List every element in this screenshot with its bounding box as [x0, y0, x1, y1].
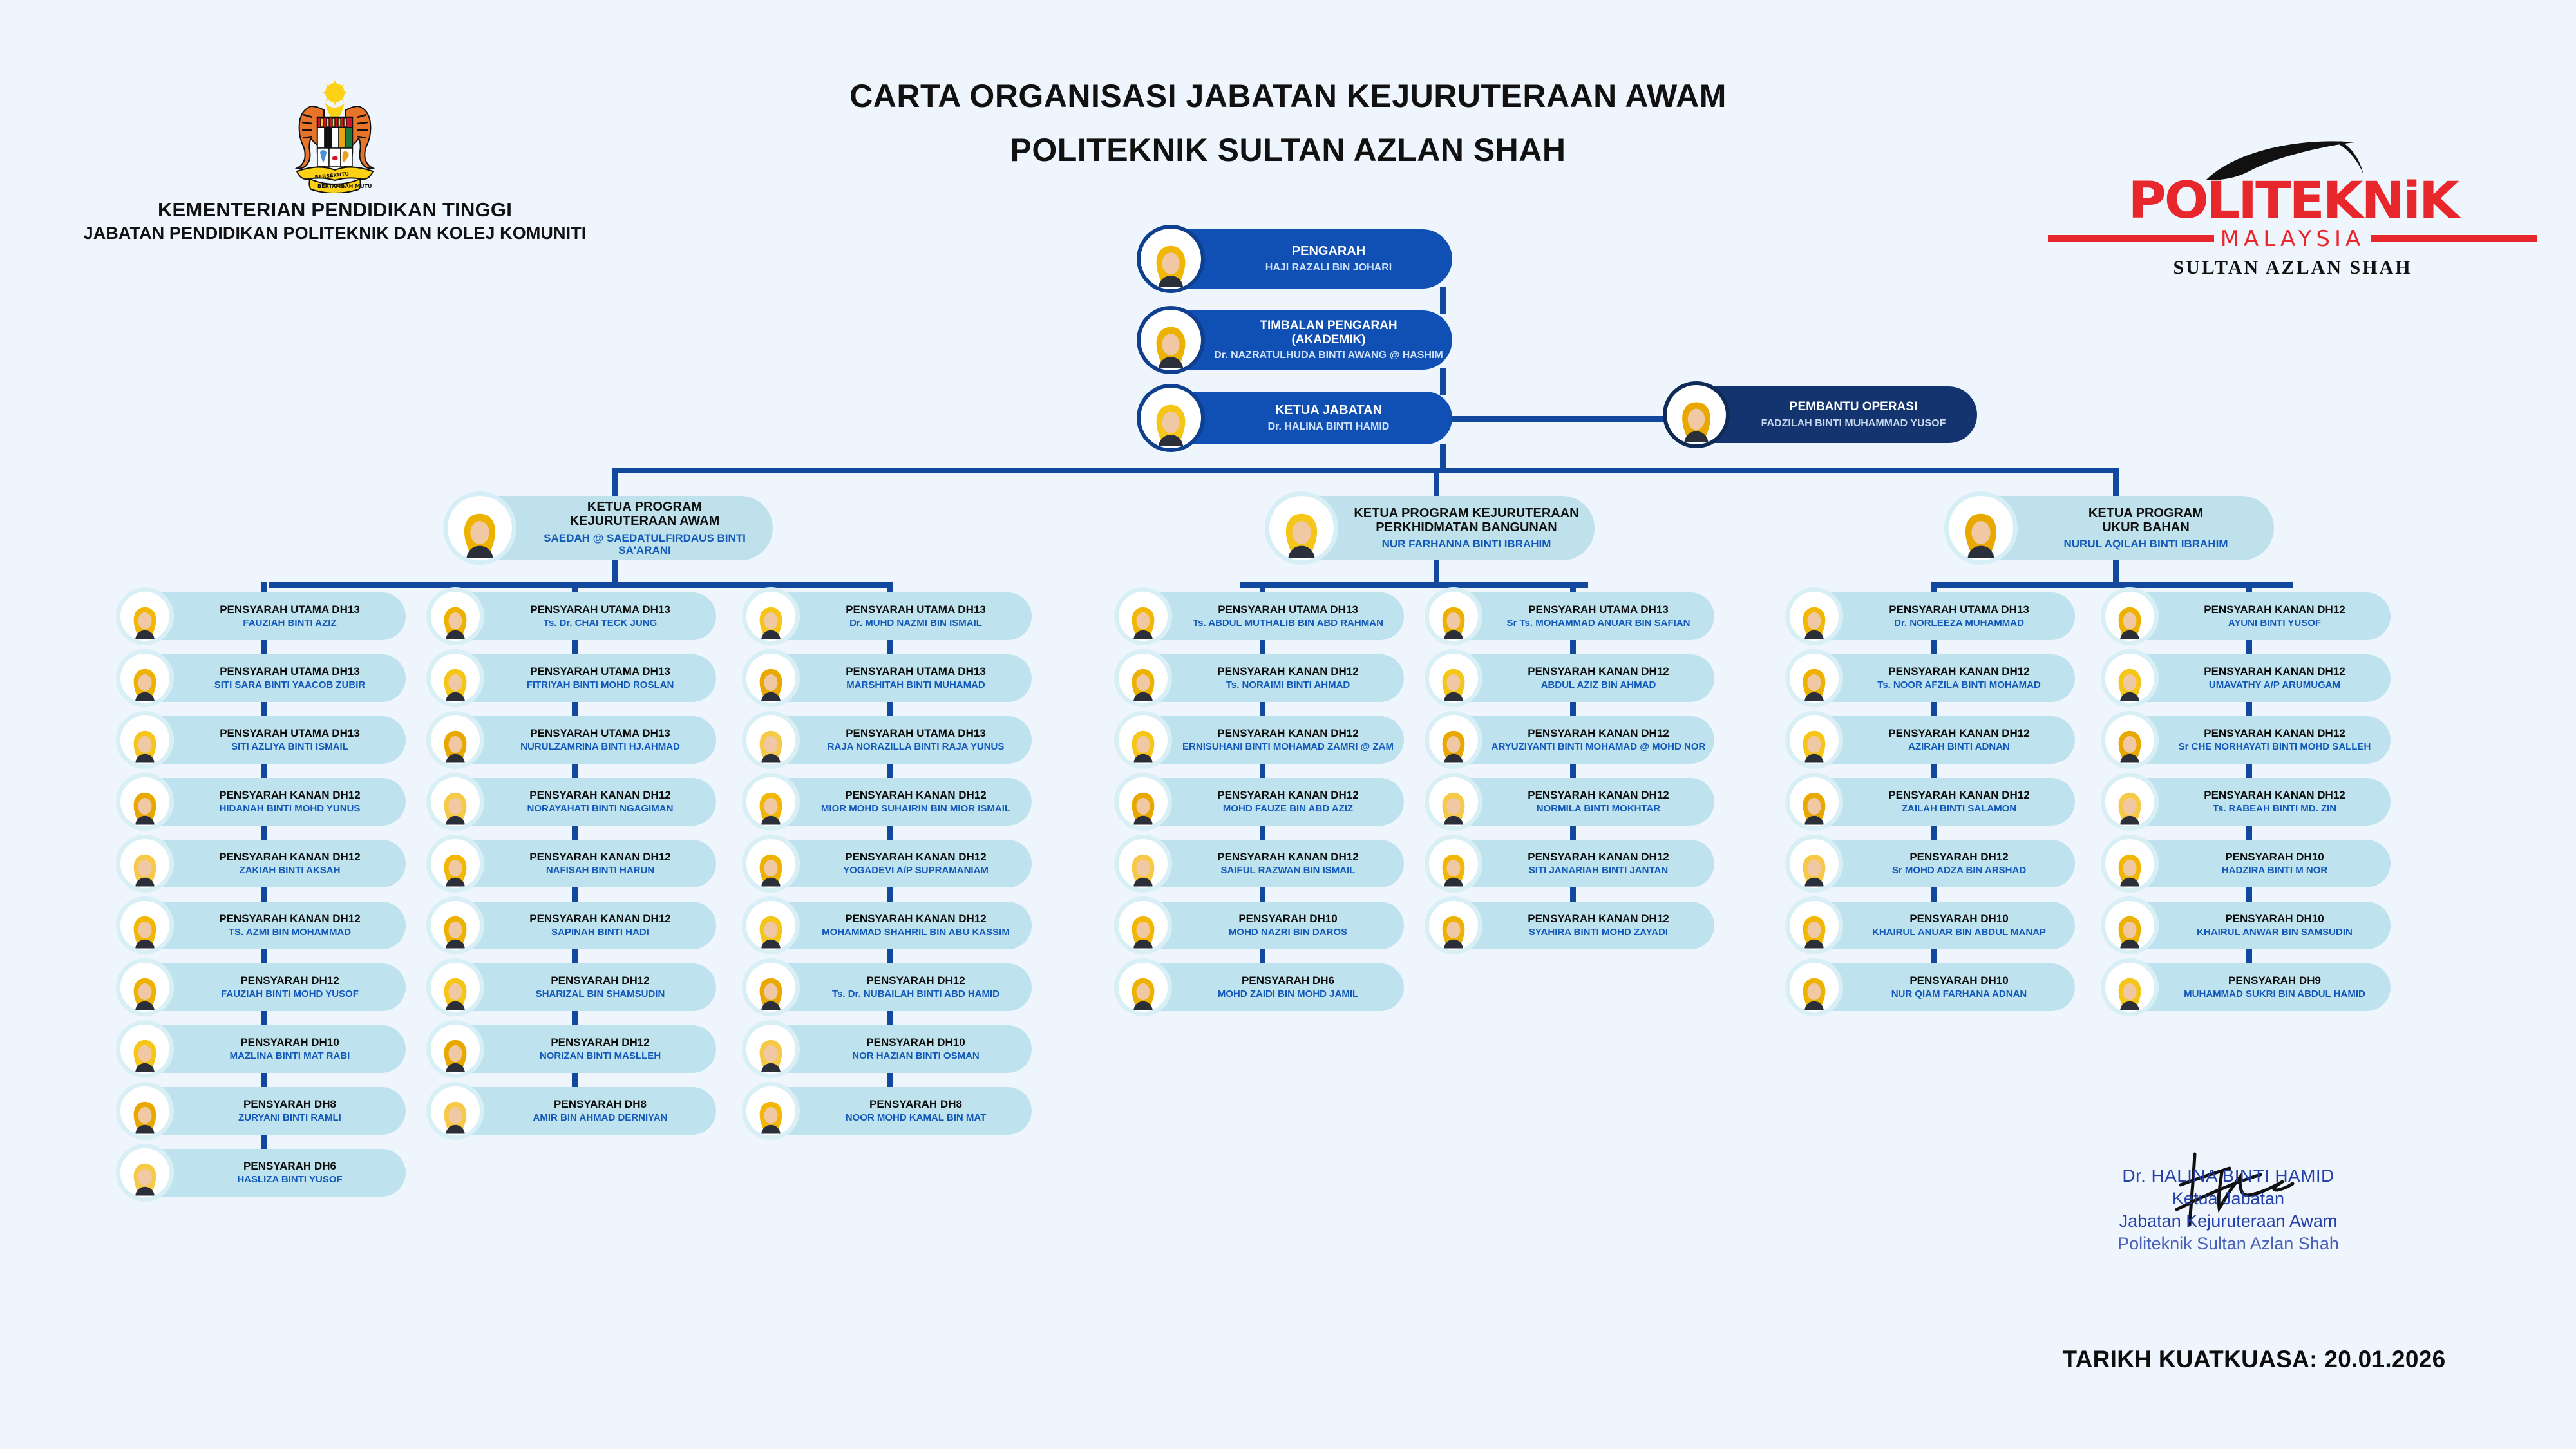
- node-text: PENSYARAH KANAN DH12NAFISAH BINTI HARUN: [484, 851, 716, 876]
- connector-program-bus: [612, 468, 2119, 473]
- connector-staff-link: [261, 640, 267, 654]
- connector-staff-link: [261, 949, 267, 963]
- node-role: PENSYARAH KANAN DH12: [2165, 603, 2384, 616]
- connector-staff-link: [261, 1011, 267, 1025]
- node-staff[interactable]: PENSYARAH KANAN DH12SAIFUL RAZWAN BIN IS…: [1121, 840, 1404, 887]
- avatar: [116, 1144, 174, 1202]
- connector-staff-link: [261, 1073, 267, 1087]
- avatar: [1944, 491, 2018, 565]
- avatar: [426, 649, 484, 707]
- node-timbalan-pengarah[interactable]: TIMBALAN PENGARAH(AKADEMIK)Dr. NAZRATULH…: [1143, 310, 1452, 370]
- node-person-name: SAPINAH BINTI HADI: [491, 927, 710, 938]
- avatar: [1785, 835, 1843, 893]
- node-role: TIMBALAN PENGARAH(AKADEMIK): [1211, 319, 1446, 346]
- node-staff[interactable]: PENSYARAH DH8NOOR MOHD KAMAL BIN MAT: [748, 1087, 1032, 1135]
- node-role: PENSYARAH DH10: [1850, 913, 2069, 925]
- node-staff[interactable]: PENSYARAH DH10NUR QIAM FARHANA ADNAN: [1792, 963, 2075, 1011]
- node-text: PENSYARAH UTAMA DH13SITI AZLIYA BINTI IS…: [174, 727, 406, 753]
- node-staff[interactable]: PENSYARAH UTAMA DH13NURULZAMRINA BINTI H…: [433, 716, 716, 764]
- connector-staff-link: [887, 1073, 893, 1087]
- connector-staff-link: [887, 1011, 893, 1025]
- node-person-name: NUR QIAM FARHANA ADNAN: [1850, 989, 2069, 1000]
- node-role: PENSYARAH KANAN DH12: [806, 789, 1025, 801]
- node-person-name: NURUL AQILAH BINTI IBRAHIM: [2024, 538, 2268, 550]
- node-text: PENSYARAH DH8ZURYANI BINTI RAMLI: [174, 1098, 406, 1124]
- connector-staff-link: [572, 764, 578, 778]
- node-staff[interactable]: PENSYARAH DH10HADZIRA BINTI M NOR: [2107, 840, 2391, 887]
- avatar: [1114, 835, 1172, 893]
- avatar: [1137, 384, 1205, 452]
- node-person-name: FAUZIAH BINTI AZIZ: [180, 618, 399, 629]
- node-staff[interactable]: PENSYARAH KANAN DH12MOHD FAUZE BIN ABD A…: [1121, 778, 1404, 826]
- node-person-name: Dr. HALINA BINTI HAMID: [1211, 421, 1446, 433]
- node-role: PENSYARAH KANAN DH12: [1179, 789, 1397, 801]
- node-person-name: RAJA NORAZILLA BINTI RAJA YUNUS: [806, 742, 1025, 753]
- node-text: PENSYARAH KANAN DH12SITI JANARIAH BINTI …: [1482, 851, 1714, 876]
- node-text: PENSYARAH DH10MAZLINA BINTI MAT RABI: [174, 1036, 406, 1062]
- malaysia-coat-of-arms-icon: BERSEKUTU BERTAMBAH MUTU: [261, 77, 409, 193]
- node-text: PENSYARAH KANAN DH12NORMILA BINTI MOKHTA…: [1482, 789, 1714, 815]
- node-role: PENSYARAH KANAN DH12: [1850, 789, 2069, 801]
- node-role: PENSYARAH KANAN DH12: [1489, 851, 1708, 863]
- node-person-name: MARSHITAH BINTI MUHAMAD: [806, 680, 1025, 691]
- avatar: [116, 773, 174, 831]
- chart-title-block: CARTA ORGANISASI JABATAN KEJURUTERAAN AW…: [644, 77, 1932, 169]
- page-header: BERSEKUTU BERTAMBAH MUTU KEMENTERIAN PEN…: [0, 0, 2576, 213]
- node-staff[interactable]: PENSYARAH UTAMA DH13SITI SARA BINTI YAAC…: [122, 654, 406, 702]
- connector-staff-link: [887, 702, 893, 716]
- politeknik-campus: SULTAN AZLAN SHAH: [2048, 257, 2537, 279]
- node-role: KETUA PROGRAMKEJURUTERAAN AWAM: [523, 500, 766, 529]
- node-text: PENSYARAH KANAN DH12AYUNI BINTI YUSOF: [2159, 603, 2391, 629]
- node-person-name: NUR FARHANNA BINTI IBRAHIM: [1345, 538, 1588, 550]
- avatar: [742, 773, 800, 831]
- node-text: PENSYARAH UTAMA DH13SITI SARA BINTI YAAC…: [174, 665, 406, 691]
- node-person-name: ARYUZIYANTI BINTI MOHAMAD @ MOHD NOR: [1489, 742, 1708, 753]
- connector-staff-link: [2246, 640, 2252, 654]
- node-staff[interactable]: PENSYARAH DH6MOHD ZAIDI BIN MOHD JAMIL: [1121, 963, 1404, 1011]
- avatar: [1425, 711, 1482, 769]
- node-text: PENSYARAH KANAN DH12ABDUL AZIZ BIN AHMAD: [1482, 665, 1714, 691]
- node-person-name: ZAKIAH BINTI AKSAH: [180, 866, 399, 876]
- node-person-name: Sr CHE NORHAYATI BINTI MOHD SALLEH: [2165, 742, 2384, 753]
- node-staff[interactable]: PENSYARAH KANAN DH12AYUNI BINTI YUSOF: [2107, 592, 2391, 640]
- avatar: [1114, 773, 1172, 831]
- avatar: [1425, 896, 1482, 954]
- node-text: PENSYARAH UTAMA DH13MARSHITAH BINTI MUHA…: [800, 665, 1032, 691]
- avatar: [1114, 649, 1172, 707]
- node-staff[interactable]: PENSYARAH UTAMA DH13Ts. Dr. CHAI TECK JU…: [433, 592, 716, 640]
- node-staff[interactable]: PENSYARAH KANAN DH12TS. AZMI BIN MOHAMMA…: [122, 902, 406, 949]
- node-staff[interactable]: PENSYARAH KANAN DH12UMAVATHY A/P ARUMUGA…: [2107, 654, 2391, 702]
- connector-staff-link: [261, 702, 267, 716]
- connector-staff-link: [1260, 702, 1265, 716]
- avatar: [1114, 587, 1172, 645]
- node-person-name: ZURYANI BINTI RAMLI: [180, 1113, 399, 1124]
- node-staff[interactable]: PENSYARAH KANAN DH12Ts. NOOR AFZILA BINT…: [1792, 654, 2075, 702]
- node-person-name: NOR HAZIAN BINTI OSMAN: [806, 1051, 1025, 1062]
- connector-staff-link: [572, 887, 578, 902]
- node-text: PENSYARAH UTAMA DH13Ts. ABDUL MUTHALIB B…: [1172, 603, 1404, 629]
- node-staff[interactable]: PENSYARAH KANAN DH12ABDUL AZIZ BIN AHMAD: [1431, 654, 1714, 702]
- node-staff[interactable]: PENSYARAH DH9MUHAMMAD SUKRI BIN ABDUL HA…: [2107, 963, 2391, 1011]
- avatar: [1265, 491, 1338, 565]
- node-text: PENSYARAH UTAMA DH13RAJA NORAZILLA BINTI…: [800, 727, 1032, 753]
- avatar: [426, 896, 484, 954]
- node-staff[interactable]: PENSYARAH KANAN DH12SYAHIRA BINTI MOHD Z…: [1431, 902, 1714, 949]
- node-person-name: YOGADEVI A/P SUPRAMANIAM: [806, 866, 1025, 876]
- node-role: PENSYARAH UTAMA DH13: [491, 727, 710, 739]
- node-staff[interactable]: PENSYARAH UTAMA DH13FAUZIAH BINTI AZIZ: [122, 592, 406, 640]
- node-staff[interactable]: PENSYARAH DH6HASLIZA BINTI YUSOF: [122, 1149, 406, 1197]
- node-text: PENSYARAH KANAN DH12Ts. NOOR AFZILA BINT…: [1843, 665, 2075, 691]
- avatar: [1137, 306, 1205, 374]
- node-pengarah[interactable]: PENGARAHHAJI RAZALI BIN JOHARI: [1143, 229, 1452, 289]
- node-staff[interactable]: PENSYARAH DH10NOR HAZIAN BINTI OSMAN: [748, 1025, 1032, 1073]
- node-role: PENSYARAH DH12: [180, 974, 399, 987]
- node-person-name: Ts. Dr. NUBAILAH BINTI ABD HAMID: [806, 989, 1025, 1000]
- node-head-ukur-bahan[interactable]: KETUA PROGRAMUKUR BAHANNURUL AQILAH BINT…: [1952, 496, 2274, 560]
- node-role: PENSYARAH UTAMA DH13: [180, 727, 399, 739]
- node-person-name: SAIFUL RAZWAN BIN ISMAIL: [1179, 866, 1397, 876]
- connector-staff-link: [1931, 887, 1937, 902]
- node-text: PENSYARAH KANAN DH12HIDANAH BINTI MOHD Y…: [174, 789, 406, 815]
- node-role: PENSYARAH KANAN DH12: [180, 851, 399, 863]
- node-head-kejuruteraan-awam[interactable]: KETUA PROGRAMKEJURUTERAAN AWAMSAEDAH @ S…: [451, 496, 773, 560]
- avatar: [742, 958, 800, 1016]
- node-staff[interactable]: PENSYARAH KANAN DH12YOGADEVI A/P SUPRAMA…: [748, 840, 1032, 887]
- node-staff[interactable]: PENSYARAH UTAMA DH13Dr. MUHD NAZMI BIN I…: [748, 592, 1032, 640]
- node-text: PENSYARAH DH12SHARIZAL BIN SHAMSUDIN: [484, 974, 716, 1000]
- avatar: [443, 491, 516, 565]
- node-role: PENSYARAH DH8: [180, 1098, 399, 1110]
- node-staff[interactable]: PENSYARAH KANAN DH12NORAYAHATI BINTI NGA…: [433, 778, 716, 826]
- connector-staff-link: [887, 826, 893, 840]
- chart-title-line1: CARTA ORGANISASI JABATAN KEJURUTERAAN AW…: [644, 77, 1932, 115]
- node-person-name: MAZLINA BINTI MAT RABI: [180, 1051, 399, 1062]
- connector-bus-program-3: [1932, 582, 2293, 588]
- node-person-name: SITI SARA BINTI YAACOB ZUBIR: [180, 680, 399, 691]
- node-role: PENSYARAH KANAN DH12: [806, 851, 1025, 863]
- node-person-name: SHARIZAL BIN SHAMSUDIN: [491, 989, 710, 1000]
- node-role: PENSYARAH DH6: [180, 1160, 399, 1172]
- node-person-name: HASLIZA BINTI YUSOF: [180, 1175, 399, 1186]
- connector-staff-link: [1931, 826, 1937, 840]
- node-staff[interactable]: PENSYARAH UTAMA DH13Sr Ts. MOHAMMAD ANUA…: [1431, 592, 1714, 640]
- node-staff[interactable]: PENSYARAH DH10MAZLINA BINTI MAT RABI: [122, 1025, 406, 1073]
- connector-staff-link: [1570, 826, 1576, 840]
- node-staff[interactable]: PENSYARAH UTAMA DH13FITRIYAH BINTI MOHD …: [433, 654, 716, 702]
- politeknik-wordmark: POLITEKNiK: [2038, 178, 2547, 225]
- node-text: PENSYARAH KANAN DH12TS. AZMI BIN MOHAMMA…: [174, 913, 406, 938]
- node-role: PENSYARAH KANAN DH12: [1850, 727, 2069, 739]
- node-person-name: SITI JANARIAH BINTI JANTAN: [1489, 866, 1708, 876]
- node-role: PENSYARAH DH10: [2165, 851, 2384, 863]
- node-staff[interactable]: PENSYARAH DH10MOHD NAZRI BIN DAROS: [1121, 902, 1404, 949]
- connector-bus-program-2: [1240, 582, 1588, 588]
- node-person-name: MUHAMMAD SUKRI BIN ABDUL HAMID: [2165, 989, 2384, 1000]
- ministry-department-name: JABATAN PENDIDIKAN POLITEKNIK DAN KOLEJ …: [71, 223, 599, 243]
- avatar: [426, 835, 484, 893]
- node-staff[interactable]: PENSYARAH KANAN DH12SITI JANARIAH BINTI …: [1431, 840, 1714, 887]
- node-role: PENSYARAH UTAMA DH13: [491, 603, 710, 616]
- node-role: PENSYARAH KANAN DH12: [1179, 851, 1397, 863]
- node-person-name: MOHD NAZRI BIN DAROS: [1179, 927, 1397, 938]
- node-text: PENSYARAH UTAMA DH13Ts. Dr. CHAI TECK JU…: [484, 603, 716, 629]
- effective-date: TARIKH KUATKUASA: 20.01.2026: [2016, 1346, 2492, 1373]
- connector-staff-link: [261, 764, 267, 778]
- node-staff[interactable]: PENSYARAH KANAN DH12NAFISAH BINTI HARUN: [433, 840, 716, 887]
- node-role: PENSYARAH KANAN DH12: [1850, 665, 2069, 677]
- node-role: PENSYARAH UTAMA DH13: [180, 603, 399, 616]
- node-staff[interactable]: PENSYARAH DH12SHARIZAL BIN SHAMSUDIN: [433, 963, 716, 1011]
- svg-text:BERTAMBAH MUTU: BERTAMBAH MUTU: [317, 184, 372, 189]
- node-role: PENSYARAH UTAMA DH13: [806, 603, 1025, 616]
- node-staff[interactable]: PENSYARAH DH8AMIR BIN AHMAD DERNIYAN: [433, 1087, 716, 1135]
- avatar: [1425, 835, 1482, 893]
- node-text: PENSYARAH KANAN DH12UMAVATHY A/P ARUMUGA…: [2159, 665, 2391, 691]
- connector-staff-link: [261, 1135, 267, 1149]
- node-person-name: KHAIRUL ANWAR BIN SAMSUDIN: [2165, 927, 2384, 938]
- node-person-name: MOHAMMAD SHAHRIL BIN ABU KASSIM: [806, 927, 1025, 938]
- connector-staff-link: [1931, 702, 1937, 716]
- connector-drop-program-3: [2113, 468, 2119, 500]
- avatar: [1663, 381, 1730, 448]
- node-text: PENSYARAH KANAN DH12Ts. RABEAH BINTI MD.…: [2159, 789, 2391, 815]
- node-role: PENSYARAH KANAN DH12: [2165, 727, 2384, 739]
- connector-staff-link: [887, 764, 893, 778]
- node-role: KETUA PROGRAMUKUR BAHAN: [2024, 506, 2268, 535]
- connector-staff-link: [2246, 949, 2252, 963]
- node-staff[interactable]: PENSYARAH UTAMA DH13MARSHITAH BINTI MUHA…: [748, 654, 1032, 702]
- signature-institution: Politeknik Sultan Azlan Shah: [2048, 1234, 2409, 1254]
- avatar: [2101, 711, 2159, 769]
- node-role: PENSYARAH DH8: [806, 1098, 1025, 1110]
- avatar: [2101, 835, 2159, 893]
- node-staff[interactable]: PENSYARAH DH12NORIZAN BINTI MASLLEH: [433, 1025, 716, 1073]
- node-role: PENSYARAH KANAN DH12: [2165, 789, 2384, 801]
- node-text: PENSYARAH UTAMA DH13NURULZAMRINA BINTI H…: [484, 727, 716, 753]
- node-staff[interactable]: PENSYARAH KANAN DH12NORMILA BINTI MOKHTA…: [1431, 778, 1714, 826]
- node-text: PENSYARAH KANAN DH12Ts. NORAIMI BINTI AH…: [1172, 665, 1404, 691]
- connector-staff-link: [261, 826, 267, 840]
- node-person-name: Dr. NORLEEZA MUHAMMAD: [1850, 618, 2069, 629]
- node-head-perkhidmatan-bangunan[interactable]: KETUA PROGRAM KEJURUTERAANPERKHIDMATAN B…: [1273, 496, 1595, 560]
- avatar: [742, 587, 800, 645]
- connector-staff-link: [572, 702, 578, 716]
- node-text: PENSYARAH DH12FAUZIAH BINTI MOHD YUSOF: [174, 974, 406, 1000]
- node-person-name: TS. AZMI BIN MOHAMMAD: [180, 927, 399, 938]
- node-staff[interactable]: PENSYARAH KANAN DH12ARYUZIYANTI BINTI MO…: [1431, 716, 1714, 764]
- connector-timbalan-ketua: [1440, 368, 1446, 395]
- node-role: PENSYARAH KANAN DH12: [1489, 665, 1708, 677]
- node-text: PENSYARAH DH10HADZIRA BINTI M NOR: [2159, 851, 2391, 876]
- connector-staff-link: [2246, 764, 2252, 778]
- node-ketua-jabatan[interactable]: KETUA JABATANDr. HALINA BINTI HAMID: [1143, 392, 1452, 444]
- node-role: PENSYARAH UTAMA DH13: [1489, 603, 1708, 616]
- node-role: PENSYARAH KANAN DH12: [806, 913, 1025, 925]
- node-staff[interactable]: PENSYARAH KANAN DH12HIDANAH BINTI MOHD Y…: [122, 778, 406, 826]
- avatar: [426, 1082, 484, 1140]
- politeknik-logo-block: POLITEKNiK MALAYSIA SULTAN AZLAN SHAH: [2048, 145, 2537, 279]
- connector-staff-link: [1931, 949, 1937, 963]
- node-role: PENSYARAH KANAN DH12: [491, 851, 710, 863]
- node-person-name: Sr Ts. MOHAMMAD ANUAR BIN SAFIAN: [1489, 618, 1708, 629]
- avatar: [116, 1020, 174, 1078]
- connector-staff-link: [2246, 887, 2252, 902]
- node-text: PENSYARAH DH10KHAIRUL ANUAR BIN ABDUL MA…: [1843, 913, 2075, 938]
- avatar: [1114, 896, 1172, 954]
- node-staff[interactable]: PENSYARAH DH12FAUZIAH BINTI MOHD YUSOF: [122, 963, 406, 1011]
- avatar: [1114, 958, 1172, 1016]
- node-text: PENSYARAH UTAMA DH13Dr. MUHD NAZMI BIN I…: [800, 603, 1032, 629]
- node-staff[interactable]: PENSYARAH KANAN DH12AZIRAH BINTI ADNAN: [1792, 716, 2075, 764]
- node-staff[interactable]: PENSYARAH KANAN DH12Ts. NORAIMI BINTI AH…: [1121, 654, 1404, 702]
- node-staff[interactable]: PENSYARAH UTAMA DH13Dr. NORLEEZA MUHAMMA…: [1792, 592, 2075, 640]
- node-text: KETUA JABATANDr. HALINA BINTI HAMID: [1205, 403, 1452, 432]
- signature-name: Dr. HALINA BINTI HAMID: [2048, 1166, 2409, 1186]
- connector-bus-program-1: [269, 582, 890, 588]
- connector-staff-link: [1570, 887, 1576, 902]
- node-person-name: AMIR BIN AHMAD DERNIYAN: [491, 1113, 710, 1124]
- connector-staff-link: [1570, 764, 1576, 778]
- avatar: [2101, 587, 2159, 645]
- avatar: [2101, 773, 2159, 831]
- node-staff[interactable]: PENSYARAH DH10KHAIRUL ANUAR BIN ABDUL MA…: [1792, 902, 2075, 949]
- avatar: [1785, 649, 1843, 707]
- node-person-name: Ts. NOOR AFZILA BINTI MOHAMAD: [1850, 680, 2069, 691]
- node-role: PENSYARAH UTAMA DH13: [1179, 603, 1397, 616]
- logo-bar-right: [2371, 235, 2537, 242]
- avatar: [426, 711, 484, 769]
- avatar: [1425, 649, 1482, 707]
- connector-ketua-pembantu: [1449, 416, 1668, 422]
- avatar: [116, 649, 174, 707]
- connector-staff-link: [1260, 826, 1265, 840]
- node-person-name: SYAHIRA BINTI MOHD ZAYADI: [1489, 927, 1708, 938]
- node-person-name: ZAILAH BINTI SALAMON: [1850, 804, 2069, 815]
- node-staff[interactable]: PENSYARAH KANAN DH12ZAKIAH BINTI AKSAH: [122, 840, 406, 887]
- node-person-name: NOOR MOHD KAMAL BIN MAT: [806, 1113, 1025, 1124]
- node-person-name: MOHD ZAIDI BIN MOHD JAMIL: [1179, 989, 1397, 1000]
- logo-bar-left: [2048, 235, 2214, 242]
- node-role: PENSYARAH KANAN DH12: [1489, 913, 1708, 925]
- node-staff[interactable]: PENSYARAH KANAN DH12MOHAMMAD SHAHRIL BIN…: [748, 902, 1032, 949]
- node-person-name: AZIRAH BINTI ADNAN: [1850, 742, 2069, 753]
- node-staff[interactable]: PENSYARAH DH12Sr MOHD ADZA BIN ARSHAD: [1792, 840, 2075, 887]
- node-staff[interactable]: PENSYARAH KANAN DH12Sr CHE NORHAYATI BIN…: [2107, 716, 2391, 764]
- node-staff[interactable]: PENSYARAH DH8ZURYANI BINTI RAMLI: [122, 1087, 406, 1135]
- avatar: [2101, 896, 2159, 954]
- node-staff[interactable]: PENSYARAH UTAMA DH13SITI AZLIYA BINTI IS…: [122, 716, 406, 764]
- node-role: PENSYARAH KANAN DH12: [1179, 727, 1397, 739]
- node-text: PENSYARAH DH8NOOR MOHD KAMAL BIN MAT: [800, 1098, 1032, 1124]
- node-text: KETUA PROGRAMUKUR BAHANNURUL AQILAH BINT…: [2018, 506, 2274, 551]
- node-text: PENSYARAH UTAMA DH13FAUZIAH BINTI AZIZ: [174, 603, 406, 629]
- avatar: [116, 896, 174, 954]
- node-text: PENSYARAH DH6MOHD ZAIDI BIN MOHD JAMIL: [1172, 974, 1404, 1000]
- node-person-name: SITI AZLIYA BINTI ISMAIL: [180, 742, 399, 753]
- node-role: PENSYARAH KANAN DH12: [180, 913, 399, 925]
- node-text: PENSYARAH DH10NOR HAZIAN BINTI OSMAN: [800, 1036, 1032, 1062]
- connector-staff-link: [2246, 702, 2252, 716]
- node-person-name: Ts. NORAIMI BINTI AHMAD: [1179, 680, 1397, 691]
- node-role: PENSYARAH UTAMA DH13: [806, 665, 1025, 677]
- node-staff[interactable]: PENSYARAH KANAN DH12Ts. RABEAH BINTI MD.…: [2107, 778, 2391, 826]
- avatar: [742, 896, 800, 954]
- node-person-name: Ts. RABEAH BINTI MD. ZIN: [2165, 804, 2384, 815]
- node-text: PENSYARAH KANAN DH12NORAYAHATI BINTI NGA…: [484, 789, 716, 815]
- avatar: [116, 1082, 174, 1140]
- node-staff[interactable]: PENSYARAH KANAN DH12ZAILAH BINTI SALAMON: [1792, 778, 2075, 826]
- node-text: KETUA PROGRAMKEJURUTERAAN AWAMSAEDAH @ S…: [516, 500, 773, 556]
- avatar: [742, 649, 800, 707]
- node-person-name: NURULZAMRINA BINTI HJ.AHMAD: [491, 742, 710, 753]
- node-pembantu-operasi[interactable]: PEMBANTU OPERASIFADZILAH BINTI MUHAMMAD …: [1668, 386, 1977, 443]
- node-text: PENSYARAH DH10NUR QIAM FARHANA ADNAN: [1843, 974, 2075, 1000]
- avatar: [1785, 958, 1843, 1016]
- node-staff[interactable]: PENSYARAH UTAMA DH13Ts. ABDUL MUTHALIB B…: [1121, 592, 1404, 640]
- node-person-name: Dr. MUHD NAZMI BIN ISMAIL: [806, 618, 1025, 629]
- node-text: PENSYARAH KANAN DH12SYAHIRA BINTI MOHD Z…: [1482, 913, 1714, 938]
- node-role: PENSYARAH DH12: [806, 974, 1025, 987]
- connector-staff-link: [1260, 764, 1265, 778]
- avatar: [1114, 711, 1172, 769]
- connector-ketua-down: [1440, 444, 1446, 470]
- connector-staff-link: [1570, 640, 1576, 654]
- node-staff[interactable]: PENSYARAH DH12Ts. Dr. NUBAILAH BINTI ABD…: [748, 963, 1032, 1011]
- avatar: [742, 1020, 800, 1078]
- avatar: [1785, 711, 1843, 769]
- node-role: PENSYARAH KANAN DH12: [491, 913, 710, 925]
- connector-drop-program-2: [1434, 468, 1439, 500]
- avatar: [1425, 773, 1482, 831]
- avatar: [426, 1020, 484, 1078]
- node-role: PENSYARAH KANAN DH12: [180, 789, 399, 801]
- node-staff[interactable]: PENSYARAH UTAMA DH13RAJA NORAZILLA BINTI…: [748, 716, 1032, 764]
- node-person-name: HIDANAH BINTI MOHD YUNUS: [180, 804, 399, 815]
- node-role: PENSYARAH DH10: [180, 1036, 399, 1048]
- node-role: PENGARAH: [1211, 244, 1446, 258]
- node-text: PENSYARAH DH12Sr MOHD ADZA BIN ARSHAD: [1843, 851, 2075, 876]
- node-role: PENSYARAH DH10: [1850, 974, 2069, 987]
- node-text: PENSYARAH DH6HASLIZA BINTI YUSOF: [174, 1160, 406, 1186]
- node-role: PENSYARAH DH12: [491, 974, 710, 987]
- connector-staff-link: [572, 826, 578, 840]
- node-text: PENSYARAH KANAN DH12MIOR MOHD SUHAIRIN B…: [800, 789, 1032, 815]
- avatar: [116, 835, 174, 893]
- node-staff[interactable]: PENSYARAH KANAN DH12MIOR MOHD SUHAIRIN B…: [748, 778, 1032, 826]
- node-text: PENSYARAH KANAN DH12ERNISUHANI BINTI MOH…: [1172, 727, 1404, 753]
- node-person-name: NORIZAN BINTI MASLLEH: [491, 1051, 710, 1062]
- avatar: [116, 958, 174, 1016]
- avatar: [426, 773, 484, 831]
- node-person-name: NORMILA BINTI MOKHTAR: [1489, 804, 1708, 815]
- node-role: PENSYARAH DH10: [806, 1036, 1025, 1048]
- connector-staff-link: [2246, 826, 2252, 840]
- connector-staff-link: [1931, 764, 1937, 778]
- node-person-name: HAJI RAZALI BIN JOHARI: [1211, 262, 1446, 274]
- node-person-name: FADZILAH BINTI MUHAMMAD YUSOF: [1736, 418, 1971, 430]
- node-staff[interactable]: PENSYARAH KANAN DH12ERNISUHANI BINTI MOH…: [1121, 716, 1404, 764]
- node-staff[interactable]: PENSYARAH KANAN DH12SAPINAH BINTI HADI: [433, 902, 716, 949]
- node-staff[interactable]: PENSYARAH DH10KHAIRUL ANWAR BIN SAMSUDIN: [2107, 902, 2391, 949]
- node-text: PENSYARAH KANAN DH12SAIFUL RAZWAN BIN IS…: [1172, 851, 1404, 876]
- node-text: PENSYARAH KANAN DH12ARYUZIYANTI BINTI MO…: [1482, 727, 1714, 753]
- node-role: PENSYARAH UTAMA DH13: [491, 665, 710, 677]
- avatar: [1785, 773, 1843, 831]
- node-person-name: MIOR MOHD SUHAIRIN BIN MIOR ISMAIL: [806, 804, 1025, 815]
